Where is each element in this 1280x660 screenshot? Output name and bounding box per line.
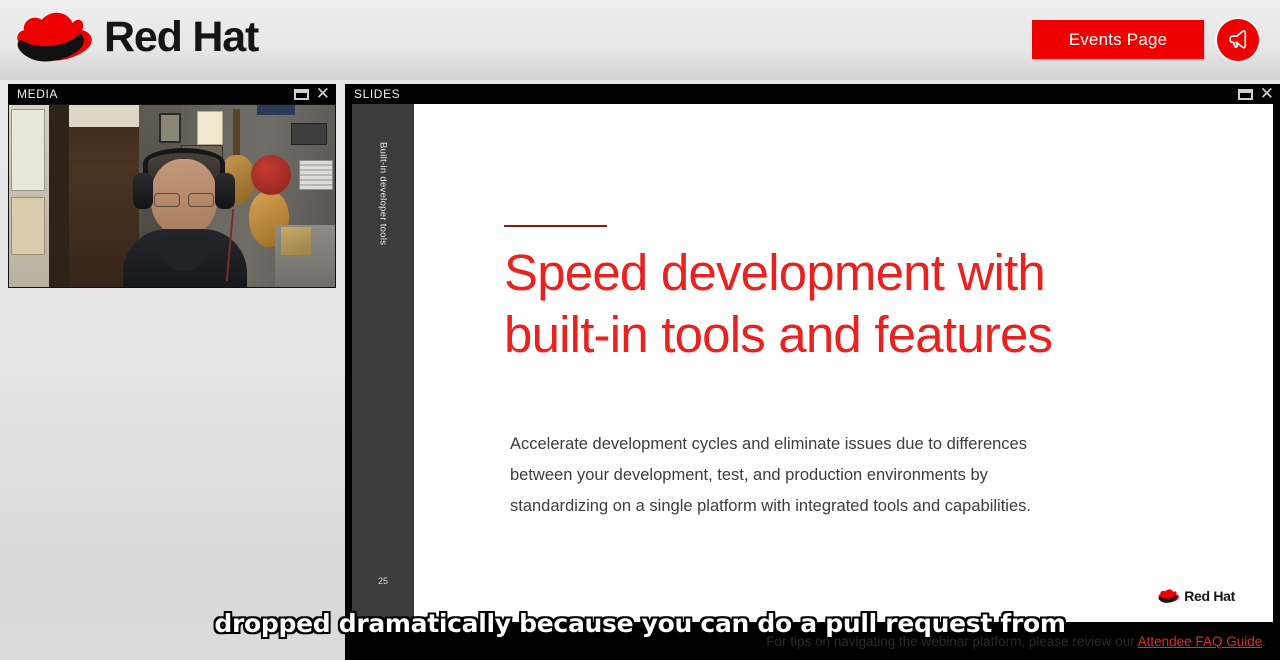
restore-window-icon[interactable] — [1238, 89, 1253, 100]
slides-panel: SLIDES ✕ Built-in developer tools 25 Spe… — [345, 84, 1280, 660]
slides-viewport: Built-in developer tools 25 Speed develo… — [345, 104, 1280, 660]
webcam-wall-picture-top — [257, 105, 295, 115]
slide-content: Speed development with built-in tools an… — [414, 104, 1273, 622]
slides-panel-title: SLIDES — [354, 87, 400, 101]
restore-window-icon[interactable] — [294, 89, 309, 100]
slide-section-rail: Built-in developer tools 25 — [352, 104, 414, 622]
red-hat-fedora-logo-icon — [1156, 587, 1180, 604]
presentation-slide[interactable]: Built-in developer tools 25 Speed develo… — [352, 104, 1273, 622]
footer-note-suffix: . — [1262, 634, 1266, 649]
webcam-window — [299, 160, 333, 190]
slide-red-hat-logo: Red Hat — [1156, 587, 1235, 604]
webcam-pillow — [281, 227, 311, 255]
webcam-door-top — [69, 105, 139, 127]
webcam-bulletin-board — [11, 109, 45, 191]
slide-section-label: Built-in developer tools — [378, 142, 389, 245]
slide-body-text: Accelerate development cycles and elimin… — [510, 429, 1080, 522]
webcam-door-frame — [49, 105, 69, 288]
events-page-button[interactable]: Events Page — [1032, 20, 1204, 59]
announcements-button[interactable] — [1217, 19, 1259, 61]
webcam-presenter — [121, 151, 249, 288]
slides-panel-titlebar: SLIDES ✕ — [345, 84, 1280, 104]
webcam-poster — [159, 113, 181, 143]
brand-name: Red Hat — [104, 16, 258, 59]
slide-logo-text: Red Hat — [1184, 588, 1235, 604]
brand-logo: Red Hat — [8, 4, 258, 66]
webcam-wall-picture-right — [291, 123, 327, 145]
slides-panel-controls: ✕ — [1238, 84, 1274, 104]
webinar-player-page: Red Hat Events Page MEDIA ✕ — [0, 0, 1280, 660]
webcam-wall-hat-red — [251, 155, 291, 195]
media-panel-titlebar: MEDIA ✕ — [8, 84, 336, 104]
webcam-video[interactable] — [8, 104, 336, 288]
close-icon[interactable]: ✕ — [1260, 87, 1274, 101]
slide-title: Speed development with built-in tools an… — [504, 242, 1164, 366]
close-icon[interactable]: ✕ — [316, 87, 330, 101]
media-panel-title: MEDIA — [17, 87, 58, 101]
media-panel: MEDIA ✕ — [8, 84, 336, 288]
webcam-wall-note — [197, 111, 223, 145]
slide-number: 25 — [352, 576, 414, 586]
footer-note-prefix: For tips on navigating the webinar platf… — [766, 634, 1137, 649]
megaphone-icon — [1226, 27, 1250, 54]
attendee-faq-guide-link[interactable]: Attendee FAQ Guide — [1138, 634, 1263, 649]
footer-help-note: For tips on navigating the webinar platf… — [0, 634, 1266, 649]
webcam-corkboard — [11, 197, 45, 255]
page-header: Red Hat Events Page — [0, 0, 1280, 80]
media-panel-controls: ✕ — [294, 84, 330, 104]
slide-accent-rule — [504, 225, 607, 227]
red-hat-fedora-logo-icon — [8, 4, 96, 66]
